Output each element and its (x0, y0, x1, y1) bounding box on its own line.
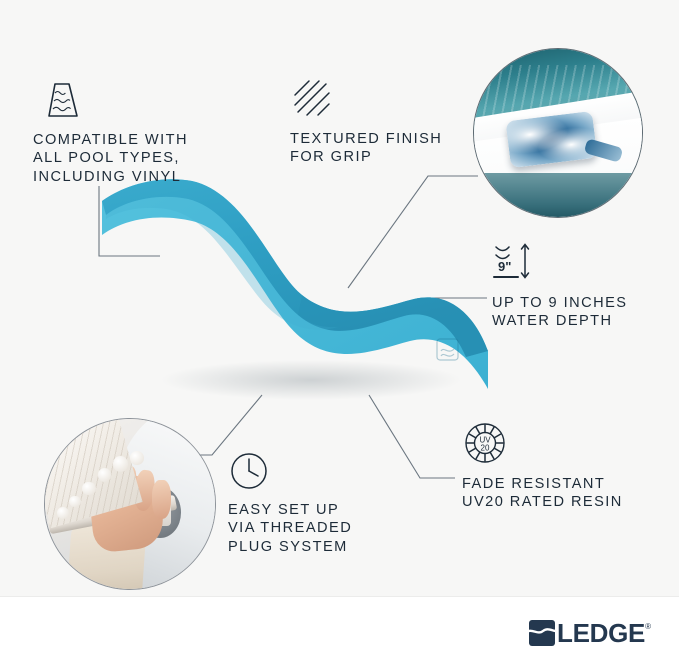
feature-easy-setup: EASY SET UP VIA THREADED PLUG SYSTEM (228, 452, 352, 556)
feature-fade-resistant: UV 20 FADE RESISTANT UV20 RATED RESIN (462, 422, 623, 512)
depth-value: 9" (498, 259, 511, 274)
feature-label: UP TO 9 INCHES WATER DEPTH (492, 294, 627, 331)
ledge-logo: LEDGE ® (529, 620, 651, 646)
ledge-logo-mark (529, 620, 555, 646)
uv-sun-icon: UV 20 (464, 422, 506, 464)
feature-label: EASY SET UP VIA THREADED PLUG SYSTEM (228, 501, 352, 556)
pool-waves-icon (36, 78, 82, 120)
feature-water-depth: 9" UP TO 9 INCHES WATER DEPTH (492, 240, 627, 331)
uv-label-bottom: 20 (481, 444, 490, 453)
ledge-logo-text: LEDGE (557, 620, 645, 646)
feature-label: FADE RESISTANT UV20 RATED RESIN (462, 475, 623, 512)
infographic-page: COMPATIBLE WITH ALL POOL TYPES, INCLUDIN… (0, 0, 679, 651)
product-illustration (96, 175, 516, 410)
feature-textured-finish: TEXTURED FINISH FOR GRIP (290, 78, 442, 167)
registered-mark: ® (645, 622, 651, 632)
infographic-stage: COMPATIBLE WITH ALL POOL TYPES, INCLUDIN… (0, 0, 679, 597)
lounger-with-pillow-photo (473, 48, 643, 218)
feature-label: COMPATIBLE WITH ALL POOL TYPES, INCLUDIN… (33, 131, 188, 186)
clock-icon (230, 452, 268, 490)
diagonal-hatch-icon (292, 78, 332, 118)
water-depth-icon: 9" (492, 240, 542, 284)
feature-label: TEXTURED FINISH FOR GRIP (290, 130, 442, 167)
feature-pool-compatibility: COMPATIBLE WITH ALL POOL TYPES, INCLUDIN… (33, 78, 188, 186)
threaded-plug-photo (44, 418, 216, 590)
